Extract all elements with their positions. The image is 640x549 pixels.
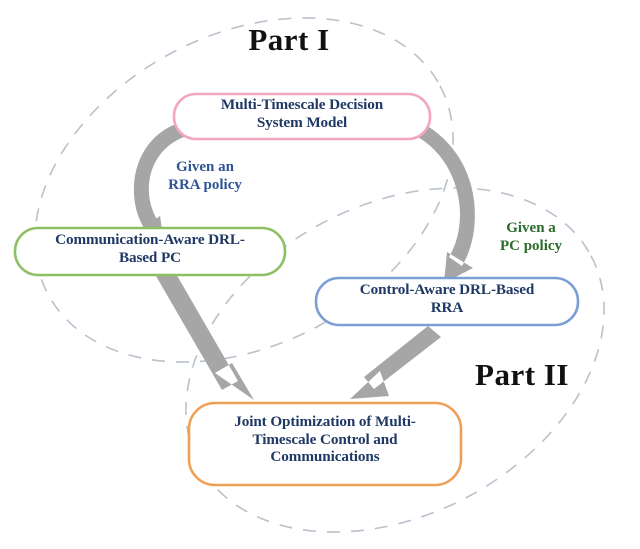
node-joint-optimization-label: Joint Optimization of Multi- Timescale C… xyxy=(192,413,458,466)
node-control-aware-drl-based-rra-label: Control-Aware DRL-Based RRA xyxy=(318,281,576,316)
edge-pc-to-joint-arrow xyxy=(156,272,254,400)
straight-arrow-right-down xyxy=(350,326,441,399)
straight-arrow-left-down xyxy=(156,272,254,400)
edge-rra-to-joint-arrow xyxy=(350,326,441,399)
edge-model-to-rra-arrow xyxy=(418,124,475,283)
curved-arrow-right xyxy=(418,124,475,283)
diagram-canvas: Multi-Timescale Decision System Model Co… xyxy=(0,0,640,549)
part-i-region-ellipse xyxy=(0,0,513,431)
part-i-label: Part I xyxy=(232,22,346,58)
part-ii-label: Part II xyxy=(462,357,582,393)
diagram-svg xyxy=(0,0,640,549)
node-communication-aware-drl-based-pc-label: Communication-Aware DRL- Based PC xyxy=(18,231,282,266)
node-multi-timescale-decision-system-model-label: Multi-Timescale Decision System Model xyxy=(176,96,428,131)
edge-model-to-rra-label: Given a PC policy xyxy=(476,219,586,256)
edge-model-to-pc-label: Given an RRA policy xyxy=(144,158,266,195)
